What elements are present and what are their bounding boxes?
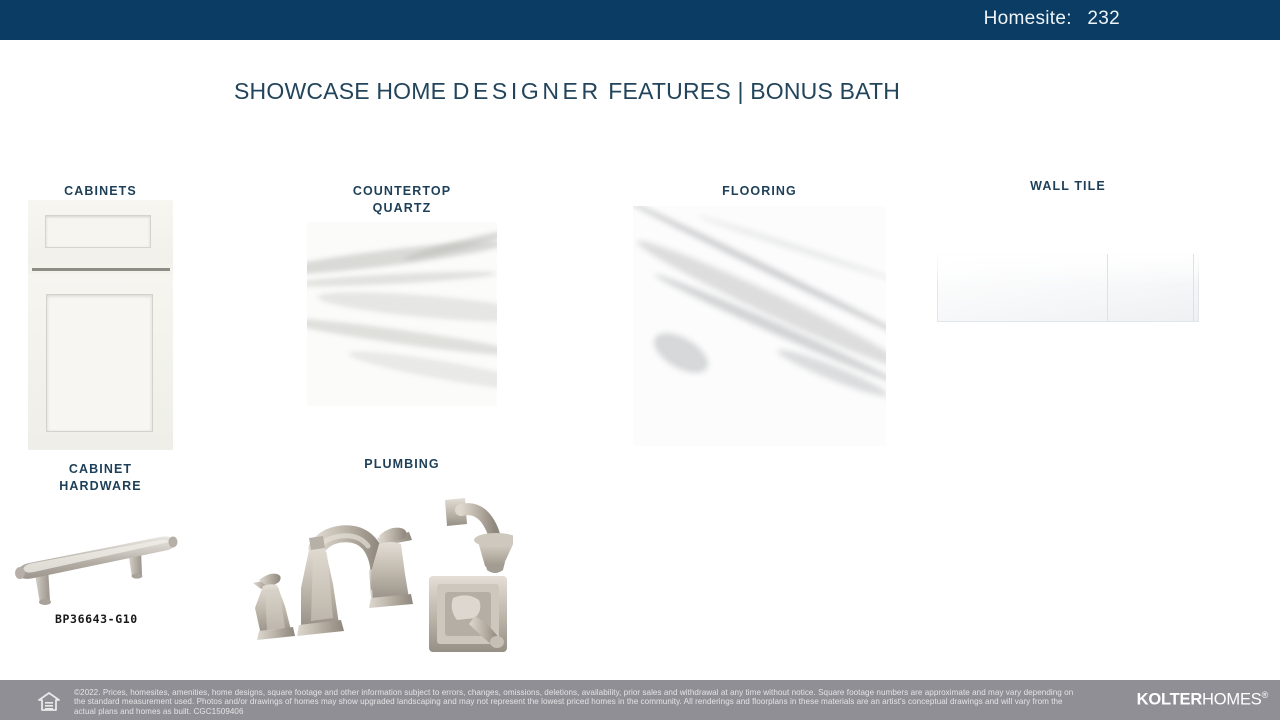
plumbing-sample [213,488,513,658]
slide-canvas: Homesite: 232 SHOWCASE HOME DESIGNER FEA… [0,0,1280,720]
page-title: SHOWCASE HOME DESIGNER FEATURES | BONUS … [234,78,900,105]
cabinet-reveal-gap [32,268,170,271]
label-flooring: FLOORING [633,183,886,200]
logo-kolter: KOLTER [1137,691,1202,709]
homesite-label: Homesite: [984,8,1072,29]
wall-tile-seam [1107,254,1108,322]
wall-tile-gloss [937,254,1199,285]
bar-pull-icon [10,513,190,613]
cabinet-drawer-inset [45,215,151,248]
wall-tile-seam [1193,254,1194,322]
cabinet-door-inset [46,294,153,432]
homesite-number: 232 [1087,8,1120,29]
equal-housing-opportunity-icon [38,692,60,717]
plumbing-fixtures-icon [213,488,513,653]
cabinet-drawer-front [28,200,173,264]
countertop-quartz-sample [307,222,497,406]
cabinet-door-front [28,274,173,450]
hardware-part-number: BP36643-G10 [55,612,138,626]
logo-homes: HOMES [1202,691,1262,709]
wall-tile-sample [937,254,1199,322]
page-title-part2: FEATURES | BONUS BATH [602,78,900,104]
label-plumbing: PLUMBING [307,456,497,473]
page-title-part1: SHOWCASE HOME [234,78,453,104]
flooring-vein [648,325,715,381]
label-cabinets: CABINETS [28,183,173,200]
label-cabinet-hardware: CABINET HARDWARE [28,461,173,494]
label-countertop: COUNTERTOP QUARTZ [307,183,497,216]
flooring-sample [633,206,886,446]
logo-registered-mark: ® [1262,690,1268,700]
label-wall-tile: WALL TILE [937,178,1199,195]
footer-disclaimer: ©2022. Prices, homesites, amenities, hom… [74,688,1084,716]
cabinet-hardware-sample [10,513,190,618]
homesite-display: Homesite: 232 [984,8,1120,30]
page-title-designer: DESIGNER [453,78,602,104]
quartz-vein [307,269,497,290]
kolter-homes-logo: KOLTERHOMES® [1137,690,1268,710]
cabinet-door-sample [28,200,173,450]
